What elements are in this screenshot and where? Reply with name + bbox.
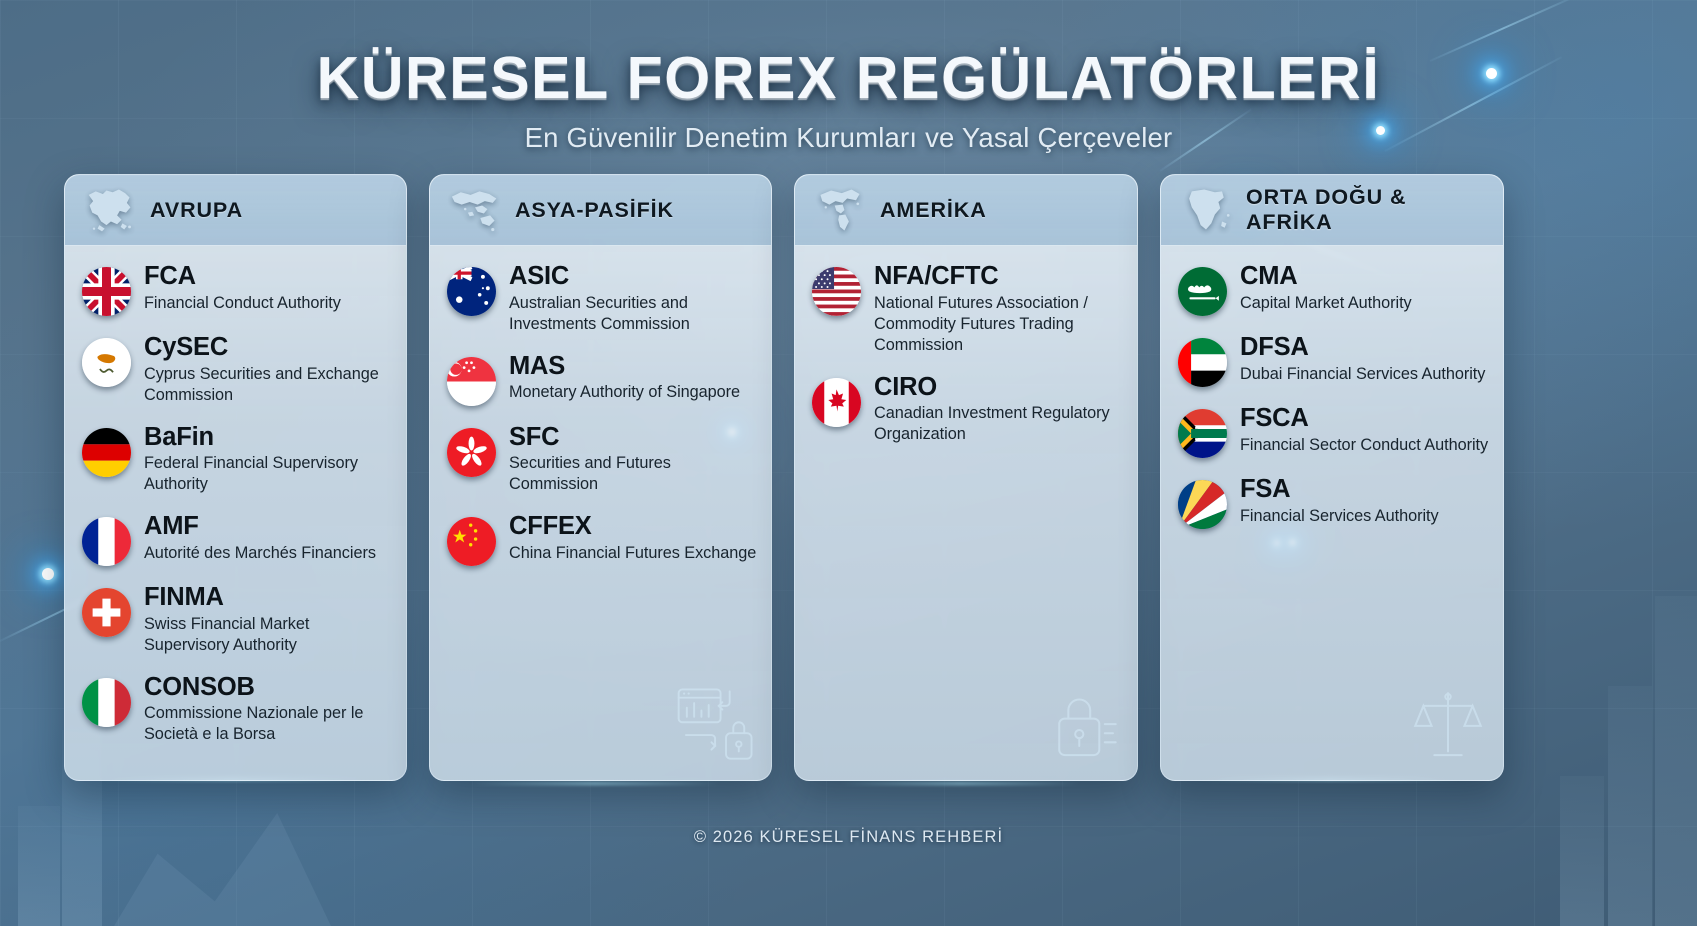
card-header-middle-east-africa: ORTA DOĞU & AFRİKA xyxy=(1161,175,1503,246)
card-underglow xyxy=(470,782,720,785)
regulator-fullname: Dubai Financial Services Authority xyxy=(1240,364,1485,385)
region-card-europe[interactable]: AVRUPA FCA Financial Conduct Auth xyxy=(64,174,407,781)
regulator-abbr: CIRO xyxy=(874,374,1123,402)
flag-seychelles-icon xyxy=(1178,480,1227,529)
regulator-fullname: Financial Services Authority xyxy=(1240,506,1439,527)
flag-germany-icon xyxy=(82,428,131,477)
regulator-fullname: Canadian Investment Regulatory Organizat… xyxy=(874,403,1123,445)
regulator-text: SFC Securities and Futures Commission xyxy=(509,424,757,496)
regulator-abbr: NFA/CFTC xyxy=(874,263,1123,291)
card-header-europe: AVRUPA xyxy=(65,175,406,246)
card-body-middle-east-africa: CMA Capital Market Authority xyxy=(1161,246,1503,529)
regulator-row[interactable]: FSCA Financial Sector Conduct Authority xyxy=(1178,405,1489,458)
page-subtitle: En Güvenilir Denetim Kurumları ve Yasal … xyxy=(0,122,1697,154)
regulator-row[interactable]: FSA Financial Services Authority xyxy=(1178,476,1489,529)
regulator-abbr: CMA xyxy=(1240,263,1412,291)
card-region-label: AVRUPA xyxy=(150,198,243,223)
lock-icon xyxy=(1041,684,1123,766)
regulator-fullname: Monetary Authority of Singapore xyxy=(509,382,740,403)
regulator-row[interactable]: CMA Capital Market Authority xyxy=(1178,263,1489,316)
regulator-fullname: China Financial Futures Exchange xyxy=(509,543,756,564)
regulator-abbr: CFFEX xyxy=(509,513,756,541)
regulator-abbr: MAS xyxy=(509,353,740,381)
regulator-text: CMA Capital Market Authority xyxy=(1240,263,1412,314)
regulator-row[interactable]: CIRO Canadian Investment Regulatory Orga… xyxy=(812,374,1123,446)
scales-of-justice-icon xyxy=(1407,684,1489,766)
regulator-text: CFFEX China Financial Futures Exchange xyxy=(509,513,756,564)
regulator-text: MAS Monetary Authority of Singapore xyxy=(509,353,740,404)
regulator-abbr: AMF xyxy=(144,513,376,541)
regulator-abbr: FSCA xyxy=(1240,405,1488,433)
regulator-row[interactable]: SFC Securities and Futures Commission xyxy=(447,424,757,496)
regulator-fullname: National Futures Association / Commodity… xyxy=(874,293,1123,356)
europe-map-icon xyxy=(83,186,137,234)
region-card-middle-east-africa[interactable]: ORTA DOĞU & AFRİKA CMA xyxy=(1160,174,1504,781)
regulator-text: AMF Autorité des Marchés Financiers xyxy=(144,513,376,564)
region-card-row: AVRUPA FCA Financial Conduct Auth xyxy=(64,174,1634,781)
flag-united-kingdom-icon xyxy=(82,267,131,316)
regulator-text: CySEC Cyprus Securities and Exchange Com… xyxy=(144,334,392,406)
regulator-row[interactable]: DFSA Dubai Financial Services Authority xyxy=(1178,334,1489,387)
regulator-row[interactable]: CONSOB Commissione Nazionale per le Soci… xyxy=(82,674,392,746)
regulator-text: DFSA Dubai Financial Services Authority xyxy=(1240,334,1485,385)
regulator-fullname: Federal Financial Supervisory Authority xyxy=(144,453,392,495)
regulator-fullname: Commissione Nazionale per le Società e l… xyxy=(144,703,392,745)
region-card-asia-pacific[interactable]: ASYA-PASİFİK xyxy=(429,174,772,781)
regulator-row[interactable]: AMF Autorité des Marchés Financiers xyxy=(82,513,392,566)
americas-map-icon xyxy=(813,186,867,234)
background-bar xyxy=(1655,596,1697,926)
card-body-europe: FCA Financial Conduct Authority CySEC Cy… xyxy=(65,246,406,745)
regulator-abbr: FINMA xyxy=(144,584,392,612)
flag-united-states-icon xyxy=(812,267,861,316)
regulator-row[interactable]: FCA Financial Conduct Authority xyxy=(82,263,392,316)
regulator-fullname: Australian Securities and Investments Co… xyxy=(509,293,757,335)
footer-copyright: © 2026 KÜRESEL FİNANS REHBERİ xyxy=(0,828,1697,847)
regulator-abbr: FCA xyxy=(144,263,341,291)
flag-united-arab-emirates-icon xyxy=(1178,338,1227,387)
regulator-abbr: BaFin xyxy=(144,424,392,452)
regulator-abbr: FSA xyxy=(1240,476,1439,504)
africa-map-icon xyxy=(1179,186,1233,234)
regulator-row[interactable]: CFFEX China Financial Futures Exchange xyxy=(447,513,757,566)
regulator-text: ASIC Australian Securities and Investmen… xyxy=(509,263,757,335)
regulator-text: FCA Financial Conduct Authority xyxy=(144,263,341,314)
regulator-text: NFA/CFTC National Futures Association / … xyxy=(874,263,1123,356)
region-card-americas[interactable]: AMERİKA xyxy=(794,174,1138,781)
regulator-text: BaFin Federal Financial Supervisory Auth… xyxy=(144,424,392,496)
regulator-fullname: Cyprus Securities and Exchange Commissio… xyxy=(144,364,392,406)
flag-singapore-icon xyxy=(447,357,496,406)
chart-lock-icon xyxy=(675,684,757,766)
flag-canada-icon xyxy=(812,378,861,427)
regulator-row[interactable]: FINMA Swiss Financial Market Supervisory… xyxy=(82,584,392,656)
background-bar xyxy=(1560,776,1604,926)
flag-hong-kong-icon xyxy=(447,428,496,477)
flag-cyprus-icon xyxy=(82,338,131,387)
page-header: KÜRESEL FOREX REGÜLATÖRLERİ En Güvenilir… xyxy=(0,0,1697,154)
card-region-label: ORTA DOĞU & AFRİKA xyxy=(1246,185,1487,235)
regulator-abbr: ASIC xyxy=(509,263,757,291)
regulator-abbr: SFC xyxy=(509,424,757,452)
flag-australia-icon xyxy=(447,267,496,316)
regulator-fullname: Swiss Financial Market Supervisory Autho… xyxy=(144,614,392,656)
flag-south-africa-icon xyxy=(1178,409,1227,458)
regulator-fullname: Financial Sector Conduct Authority xyxy=(1240,435,1488,456)
card-header-americas: AMERİKA xyxy=(795,175,1137,246)
regulator-row[interactable]: NFA/CFTC National Futures Association / … xyxy=(812,263,1123,356)
regulator-fullname: Financial Conduct Authority xyxy=(144,293,341,314)
asia-pacific-map-icon xyxy=(448,186,502,234)
flag-france-icon xyxy=(82,517,131,566)
regulator-text: FSCA Financial Sector Conduct Authority xyxy=(1240,405,1488,456)
card-body-americas: NFA/CFTC National Futures Association / … xyxy=(795,246,1137,445)
regulator-text: FINMA Swiss Financial Market Supervisory… xyxy=(144,584,392,656)
card-header-asia-pacific: ASYA-PASİFİK xyxy=(430,175,771,246)
regulator-text: FSA Financial Services Authority xyxy=(1240,476,1439,527)
regulator-text: CIRO Canadian Investment Regulatory Orga… xyxy=(874,374,1123,446)
flag-switzerland-icon xyxy=(82,588,131,637)
card-region-label: AMERİKA xyxy=(880,198,987,223)
regulator-abbr: CONSOB xyxy=(144,674,392,702)
regulator-abbr: CySEC xyxy=(144,334,392,362)
card-body-asia-pacific: ASIC Australian Securities and Investmen… xyxy=(430,246,771,566)
glow-node xyxy=(42,568,54,580)
card-region-label: ASYA-PASİFİK xyxy=(515,198,674,223)
background-bar xyxy=(18,806,60,926)
infographic-canvas: KÜRESEL FOREX REGÜLATÖRLERİ En Güvenilir… xyxy=(0,0,1697,926)
flag-saudi-arabia-icon xyxy=(1178,267,1227,316)
regulator-text: CONSOB Commissione Nazionale per le Soci… xyxy=(144,674,392,746)
regulator-fullname: Capital Market Authority xyxy=(1240,293,1412,314)
background-mountain-shape xyxy=(90,796,350,926)
regulator-fullname: Securities and Futures Commission xyxy=(509,453,757,495)
regulator-row[interactable]: ASIC Australian Securities and Investmen… xyxy=(447,263,757,335)
flag-china-icon xyxy=(447,517,496,566)
card-underglow xyxy=(840,782,1080,785)
regulator-abbr: DFSA xyxy=(1240,334,1485,362)
regulator-row[interactable]: BaFin Federal Financial Supervisory Auth… xyxy=(82,424,392,496)
regulator-fullname: Autorité des Marchés Financiers xyxy=(144,543,376,564)
page-title: KÜRESEL FOREX REGÜLATÖRLERİ xyxy=(0,44,1697,112)
flag-italy-icon xyxy=(82,678,131,727)
regulator-row[interactable]: MAS Monetary Authority of Singapore xyxy=(447,353,757,406)
regulator-row[interactable]: CySEC Cyprus Securities and Exchange Com… xyxy=(82,334,392,406)
